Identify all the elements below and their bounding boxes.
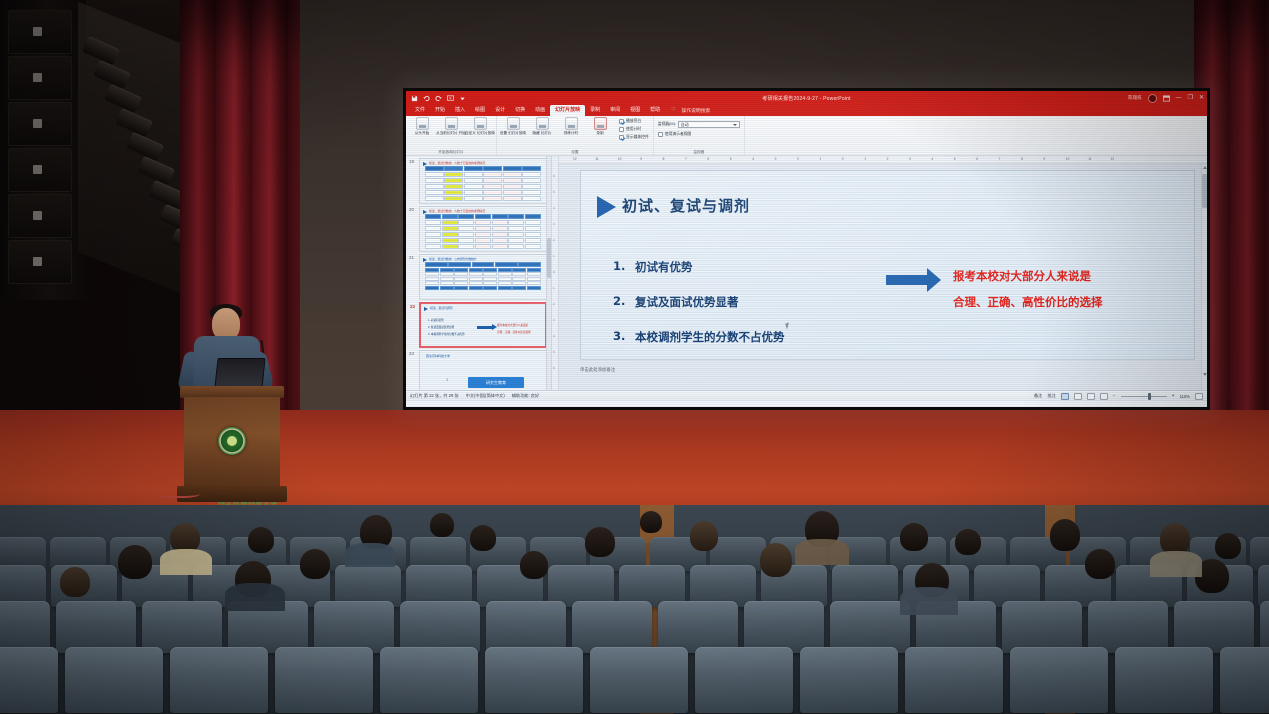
- zoom-out-button[interactable]: −: [1113, 393, 1116, 399]
- list-text-3: 本校调剂学生的分数不占优势: [635, 329, 785, 345]
- group-name-start-slideshow: 开始放映幻灯片: [406, 150, 496, 155]
- thumb-number-20: 20: [409, 207, 414, 212]
- thumb22-arrow-shape: [477, 326, 493, 329]
- ruler-tick: 1: [553, 286, 555, 290]
- checkbox-icon-presenter-view[interactable]: [658, 132, 663, 137]
- thumb-number-23: 23: [409, 351, 414, 356]
- checkbox-label-use-timings: 使用计时: [626, 127, 641, 132]
- ribbon-tab-2[interactable]: 插入: [450, 105, 470, 116]
- slide-callout-text[interactable]: 报考本校对大部分人来说是 合理、正确、高性价比的选择: [953, 263, 1195, 315]
- checkbox-icon-show-media-controls[interactable]: [619, 135, 624, 140]
- audience-member-shoulders: [795, 539, 849, 565]
- auditorium-seat: [658, 601, 738, 653]
- checkbox-label-play-narration: 播放旁白: [626, 119, 641, 124]
- floor-cable: [154, 488, 200, 498]
- university-emblem: [218, 427, 246, 455]
- ruler-tick: 3: [553, 318, 555, 322]
- audience-member-head: [1215, 533, 1241, 559]
- auditorium-seat: [142, 601, 222, 653]
- audience-member-head: [690, 521, 718, 551]
- checkbox-presenter-view[interactable]: 使用演示者视图: [658, 131, 740, 138]
- auditorium-seat: [1002, 601, 1082, 653]
- audience-member-head: [955, 529, 981, 555]
- ruler-tick: 0: [553, 270, 555, 274]
- list-text-2: 复试及面试优势显著: [635, 294, 739, 310]
- slide-list-item-3[interactable]: 3. 本校调剂学生的分数不占优势: [613, 329, 873, 345]
- rehearse-timings-label: 排练计时: [564, 131, 578, 135]
- thumb-title-21: 初试、复试分数线…公布调剂分数统计: [429, 257, 477, 261]
- ruler-tick: 5: [553, 350, 555, 354]
- checkbox-icon-play-narration[interactable]: [619, 119, 624, 124]
- zoom-level[interactable]: 116%: [1180, 394, 1190, 399]
- custom-show-icon: [474, 117, 487, 130]
- list-number-1: 1.: [613, 259, 625, 275]
- scroll-down-icon[interactable]: [1203, 373, 1207, 376]
- ruler-tick: 2: [553, 238, 555, 242]
- line-array-speaker: [8, 10, 72, 54]
- ruler-tick: 3: [553, 222, 555, 226]
- ruler-tick: 11: [1088, 157, 1091, 161]
- thumb-title-22: 初试、复试与调剂: [430, 306, 452, 310]
- auditorium-seat: [1088, 601, 1168, 653]
- account-name[interactable]: 陈瑞栋: [1128, 95, 1142, 101]
- ruler-tick: 1: [553, 254, 555, 258]
- auditorium-seat: [905, 647, 1003, 713]
- ruler-tick: 1: [864, 157, 866, 161]
- auditorium-seat: [380, 647, 478, 713]
- checkbox-use-timings[interactable]: 使用计时: [619, 126, 649, 133]
- audience-member-head: [248, 527, 274, 553]
- setup-show-icon: [507, 117, 520, 130]
- custom-show-label: 自定义 幻灯片放映: [465, 131, 495, 135]
- auditorium-seat: [486, 601, 566, 653]
- ribbon-group-monitors: 监视器(M): 自动 使用演示者视图 监视器: [654, 116, 745, 155]
- audience-member-shoulders: [160, 549, 212, 575]
- slide-indicator[interactable]: 幻灯片 第 22 张，共 29 张: [410, 393, 459, 399]
- slide-canvas[interactable]: 初试、复试与调剂 1. 初试有优势 2. 复试及面试优势显著: [580, 170, 1195, 360]
- ruler-tick: 4: [752, 157, 754, 161]
- audience-member-head: [118, 545, 152, 579]
- auditorium-seat: [0, 647, 58, 713]
- checkbox-play-narration[interactable]: 播放旁白: [619, 118, 649, 125]
- checkbox-icon-use-timings[interactable]: [619, 127, 624, 132]
- ruler-tick: 4: [553, 334, 555, 338]
- auditorium-seat: [1260, 601, 1269, 653]
- monitor-dropdown-label: 监视器(M):: [658, 122, 676, 127]
- minimize-button[interactable]: —: [1176, 95, 1182, 101]
- ribbon-tab-6[interactable]: 动画: [530, 105, 550, 116]
- checkbox-show-media-controls[interactable]: 显示媒体控件: [619, 134, 649, 141]
- auditorium-seat: [0, 601, 50, 653]
- ribbon-tab-3[interactable]: 绘图: [470, 105, 490, 116]
- slide-thumbnail-21[interactable]: 21 初试、复试分数线…公布调剂分数统计: [419, 254, 547, 300]
- audience-member-head: [900, 523, 928, 551]
- ruler-tick: 6: [707, 157, 709, 161]
- avatar[interactable]: [1148, 94, 1157, 103]
- ruler-tick: 9: [640, 157, 642, 161]
- play-from-current-icon: [445, 117, 458, 130]
- auditorium-seat: [170, 647, 268, 713]
- thumb-title-19: 初试、复试分数线…人数十万名校的考研情况: [429, 161, 485, 165]
- audience-member-head: [640, 511, 662, 533]
- audience-member-head: [60, 567, 90, 597]
- title-bar: 考研相关报告2024-9-27 - PowerPoint 陈瑞栋 — ❐ ✕: [406, 91, 1207, 105]
- ribbon-display-options-icon[interactable]: [1163, 95, 1170, 102]
- audience-member-head: [585, 527, 615, 557]
- ruler-tick: 3: [775, 157, 777, 161]
- language-indicator[interactable]: 中文(中国)(简体中文): [466, 393, 505, 399]
- line-array-speaker: [8, 56, 72, 100]
- setup-show-label: 设置 幻灯片放映: [500, 131, 526, 135]
- ruler-tick: 8: [1021, 157, 1023, 161]
- ribbon-tabs[interactable]: 文件开始插入绘图设计切换动画幻灯片放映录制审阅视图帮助♡操作说明搜索: [406, 105, 1207, 116]
- play-from-current-label: 从当前幻灯片 开始: [436, 131, 466, 135]
- hide-slide-label: 隐藏 幻灯片: [533, 131, 552, 135]
- auditorium-seat: [744, 601, 824, 653]
- ruler-tick: 7: [685, 157, 687, 161]
- auditorium-seat: [400, 601, 480, 653]
- slide-thumbnail-19[interactable]: 19 初试、复试分数线…人数十万名校的考研情况: [419, 158, 547, 204]
- ribbon-tab-5[interactable]: 切换: [510, 105, 530, 116]
- notes-placeholder[interactable]: 单击此处添加备注: [580, 364, 1195, 386]
- hide-slide-icon: [536, 117, 549, 130]
- ruler-tick: 3: [909, 157, 911, 161]
- accessibility-indicator[interactable]: 辅助功能: 良好: [512, 393, 539, 399]
- ruler-tick: 4: [553, 206, 555, 210]
- play-from-start-label: 从头开始: [415, 131, 429, 135]
- list-number-3: 3.: [613, 329, 625, 345]
- auditorium-seat: [1220, 647, 1269, 713]
- ribbon-tab-8[interactable]: 录制: [585, 105, 605, 116]
- thumb-mini-table-20: [425, 214, 541, 249]
- ruler-tick: 5: [730, 157, 732, 161]
- scroll-up-icon[interactable]: [1203, 166, 1207, 169]
- thumb23-university-name: 西北农林科技大学: [426, 354, 450, 358]
- work-area: 19 初试、复试分数线…人数十万名校的考研情况: [406, 156, 1207, 390]
- thumb-title-20: 初试、复试分数线…人数十万名校的考研情况: [429, 209, 485, 213]
- auditorium-seat: [590, 647, 688, 713]
- audience-member-head: [520, 551, 548, 579]
- ruler-tick: 10: [618, 157, 622, 161]
- ribbon-group-setup: 设置 幻灯片放映 隐藏 幻灯片 排练计时 录制: [497, 116, 654, 155]
- rehearse-timings-button[interactable]: 排练计时: [559, 117, 583, 135]
- thumb-number-22: 22: [410, 304, 415, 309]
- custom-show-button[interactable]: 自定义 幻灯片放映: [468, 117, 492, 135]
- powerpoint-window: 考研相关报告2024-9-27 - PowerPoint 陈瑞栋 — ❐ ✕ 文…: [406, 91, 1207, 407]
- projection-screen: 考研相关报告2024-9-27 - PowerPoint 陈瑞栋 — ❐ ✕ 文…: [403, 88, 1210, 410]
- audience-member-head: [1050, 519, 1080, 551]
- ribbon-tab-1[interactable]: 开始: [430, 105, 450, 116]
- audience-member-shoulders: [1150, 551, 1202, 577]
- left-speaker-stack: [0, 0, 86, 300]
- thumbnail-scrollbar[interactable]: [546, 156, 551, 390]
- list-number-2: 2.: [613, 294, 625, 310]
- rehearse-timings-icon: [565, 117, 578, 130]
- auditorium-scene: 西北农林科技大学 考研相关报告2024-9-27 - PowerPoint 陈瑞…: [0, 0, 1269, 714]
- ribbon-tab-11[interactable]: 帮助: [645, 105, 665, 116]
- ribbon-tab-10[interactable]: 视图: [625, 105, 645, 116]
- thumb23-banner: 研究生教育: [468, 377, 524, 388]
- auditorium-seat: [1174, 601, 1254, 653]
- audience-member-head: [430, 513, 454, 537]
- ruler-tick: 4: [931, 157, 933, 161]
- audience-member-shoulders: [225, 583, 285, 611]
- ruler-tick: 6: [553, 366, 555, 370]
- slide-thumbnail-23[interactable]: 23 西北农林科技大学 3 研究生教育: [419, 350, 547, 390]
- callout-line-2: 合理、正确、高性价比的选择: [953, 289, 1195, 315]
- slide-thumbnail-pane[interactable]: 19 初试、复试分数线…人数十万名校的考研情况: [406, 156, 552, 390]
- checkbox-label-show-media-controls: 显示媒体控件: [626, 135, 649, 140]
- audience-member-head: [1085, 549, 1115, 579]
- thumb23-number: 3: [446, 377, 448, 382]
- ruler-tick: 0: [842, 157, 844, 161]
- auditorium-seat: [800, 647, 898, 713]
- ruler-tick: 12: [1111, 157, 1115, 161]
- tell-me-icon: ♡: [665, 108, 675, 113]
- ribbon-group-start-slideshow: 从头开始 从当前幻灯片 开始 自定义 幻灯片放映 开始放映幻灯片: [406, 116, 497, 155]
- notes-toggle[interactable]: 备注: [1034, 393, 1042, 399]
- slide-thumbnail-20[interactable]: 20 初试、复试分数线…人数十万名校的考研情况: [419, 206, 547, 252]
- status-bar: 幻灯片 第 22 张，共 29 张 中文(中国)(简体中文) 辅助功能: 良好 …: [406, 390, 1207, 401]
- auditorium-seat: [56, 601, 136, 653]
- comments-toggle[interactable]: 批注: [1047, 393, 1055, 399]
- group-name-monitors: 监视器: [654, 150, 744, 155]
- ribbon-tab-7[interactable]: 幻灯片放映: [550, 105, 585, 116]
- ruler-tick: 1: [819, 157, 821, 161]
- ribbon-tab-4[interactable]: 设计: [490, 105, 510, 116]
- thumb22-callout-1: 报考本校对大部分人来说是: [497, 323, 528, 327]
- line-array-speaker: [8, 240, 72, 284]
- normal-view-icon[interactable]: [1061, 393, 1069, 400]
- audience-seating: [0, 505, 1269, 714]
- ruler-tick: 2: [887, 157, 889, 161]
- titlebar-right-cluster: 陈瑞栋 — ❐ ✕: [1128, 91, 1204, 105]
- ruler-tick: 9: [1043, 157, 1045, 161]
- record-label: 录制: [596, 131, 603, 135]
- ruler-tick: 6: [976, 157, 978, 161]
- document-title: 考研相关报告2024-9-27 - PowerPoint: [406, 95, 1207, 102]
- ruler-tick: 5: [954, 157, 956, 161]
- line-array-speaker: [8, 148, 72, 192]
- podium-laptop: [214, 358, 265, 388]
- slide-title[interactable]: 初试、复试与调剂: [622, 195, 750, 216]
- line-array-speaker: [8, 194, 72, 238]
- record-icon: [594, 117, 607, 130]
- ribbon-content[interactable]: 从头开始 从当前幻灯片 开始 自定义 幻灯片放映 开始放映幻灯片: [406, 116, 1207, 156]
- auditorium-seat: [485, 647, 583, 713]
- thumb22-line-1: 1. 初试有优势: [428, 318, 444, 322]
- audience-member-head: [760, 543, 792, 577]
- slide-bullet-list[interactable]: 1. 初试有优势 2. 复试及面试优势显著 3. 本校调剂学生的分数不占优势: [613, 259, 873, 360]
- ruler-tick: 11: [595, 157, 598, 161]
- thumb22-line-2: 2. 复试及面试优势显著: [428, 325, 454, 329]
- ruler-tick: 5: [553, 190, 555, 194]
- audience-member-head: [470, 525, 496, 551]
- close-button[interactable]: ✕: [1199, 95, 1204, 101]
- zoom-slider-knob[interactable]: [1148, 393, 1151, 400]
- slideshow-view-icon[interactable]: [1100, 393, 1108, 400]
- audience-member-head: [300, 549, 330, 579]
- thumb-mini-table-21: [425, 262, 541, 297]
- audience-member-shoulders: [900, 587, 958, 615]
- callout-line-1: 报考本校对大部分人来说是: [953, 263, 1195, 289]
- fit-slide-icon[interactable]: [1195, 393, 1203, 400]
- monitor-dropdown[interactable]: 自动: [678, 121, 740, 128]
- slide-list-item-1[interactable]: 1. 初试有优势: [613, 259, 873, 275]
- ruler-tick: 8: [663, 157, 665, 161]
- slide-thumbnail-22[interactable]: 22 初试、复试与调剂 1. 初试有优势 2. 复试及面试优势显著 3. 本校调…: [419, 302, 547, 348]
- play-from-start-button[interactable]: 从头开始: [410, 117, 434, 135]
- ruler-tick: 2: [553, 302, 555, 306]
- auditorium-seat: [1010, 647, 1108, 713]
- monitor-dropdown-row[interactable]: 监视器(M): 自动: [658, 120, 740, 128]
- group-name-setup: 设置: [497, 150, 653, 155]
- thumb-number-21: 21: [409, 255, 414, 260]
- checkbox-label-presenter-view: 使用演示者视图: [665, 132, 692, 137]
- vertical-ruler: 6543210123456: [552, 156, 559, 390]
- record-button[interactable]: 录制: [588, 117, 612, 135]
- slide-list-item-2[interactable]: 2. 复试及面试优势显著: [613, 294, 873, 310]
- slide-sorter-icon[interactable]: [1074, 393, 1082, 400]
- ruler-tick: 2: [797, 157, 799, 161]
- ribbon-tab-0[interactable]: 文件: [410, 105, 430, 116]
- ruler-tick: 10: [1066, 157, 1070, 161]
- zoom-slider[interactable]: [1121, 393, 1167, 400]
- thumb-mini-table-19: [425, 166, 541, 201]
- auditorium-seat: [695, 647, 793, 713]
- triangle-bullet-icon: [424, 307, 428, 311]
- play-from-start-icon: [416, 117, 429, 130]
- ruler-tick: 7: [999, 157, 1001, 161]
- zoom-in-button[interactable]: +: [1172, 393, 1175, 399]
- reading-view-icon[interactable]: [1087, 393, 1095, 400]
- tell-me-search[interactable]: 操作说明搜索: [676, 107, 711, 114]
- auditorium-seat: [572, 601, 652, 653]
- audience-member-shoulders: [345, 543, 395, 567]
- list-text-1: 初试有优势: [635, 259, 693, 275]
- thumb-number-19: 19: [409, 159, 414, 164]
- auditorium-seat: [275, 647, 373, 713]
- auditorium-seat: [314, 601, 394, 653]
- editor-scrollbar[interactable]: [1201, 164, 1207, 390]
- auditorium-seat: [1115, 647, 1213, 713]
- slide-editor[interactable]: 6543210123456 12111098765432101234567891…: [552, 156, 1207, 390]
- ruler-tick: 12: [573, 157, 577, 161]
- ruler-tick: 6: [553, 174, 555, 178]
- auditorium-seat: [65, 647, 163, 713]
- auditorium-seat: [830, 601, 910, 653]
- setup-show-button[interactable]: 设置 幻灯片放映: [501, 117, 525, 135]
- right-arrow-shape[interactable]: [886, 275, 928, 285]
- triangle-bullet-icon: [597, 196, 616, 218]
- presenter-at-podium: 西北农林科技大学: [168, 300, 293, 515]
- play-from-current-button[interactable]: 从当前幻灯片 开始: [439, 117, 463, 135]
- thumb22-callout-2: 合理、正确、高性价比的选择: [497, 330, 531, 334]
- line-array-speaker: [8, 102, 72, 146]
- editor-scrollbar-thumb[interactable]: [1202, 174, 1207, 208]
- restore-button[interactable]: ❐: [1188, 95, 1193, 101]
- horizontal-ruler: 1211109876543210123456789101112: [559, 156, 1207, 164]
- thumb22-line-3: 3. 本校调剂学生的分数不占优势: [428, 332, 465, 336]
- hide-slide-button[interactable]: 隐藏 幻灯片: [530, 117, 554, 135]
- ribbon-tab-9[interactable]: 审阅: [605, 105, 625, 116]
